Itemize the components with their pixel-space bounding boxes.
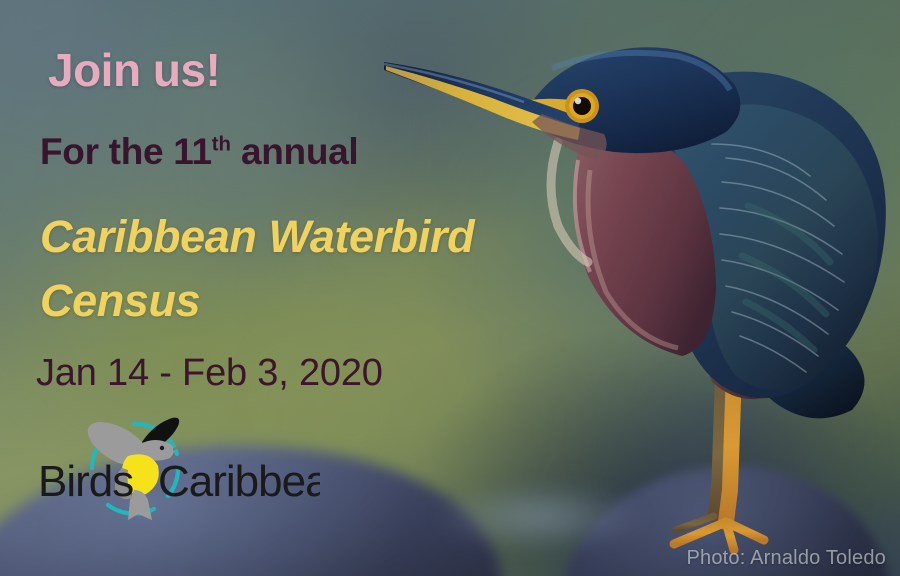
event-title-line-2: Census [40,269,600,333]
event-dates: Jan 14 - Feb 3, 2020 [36,352,383,395]
subheadline-ordinal: th [212,134,231,156]
headline-join-us: Join us! [48,43,220,97]
subheadline-prefix: For the 11 [40,131,212,172]
subheadline-annual: For the 11th annual [40,131,358,173]
event-title-line-1: Caribbean Waterbird [40,205,600,269]
photo-credit: Photo: Arnaldo Toledo [686,547,886,570]
logo-word-birds: Birds [38,457,133,506]
event-title: Caribbean Waterbird Census [40,205,600,333]
subheadline-suffix: annual [231,131,358,172]
poster-canvas: Join us! For the 11th annual Caribbean W… [0,0,900,576]
birds-caribbean-logo[interactable]: Birds Caribbean [30,408,320,523]
logo-word-caribbean: Caribbean [158,457,320,506]
